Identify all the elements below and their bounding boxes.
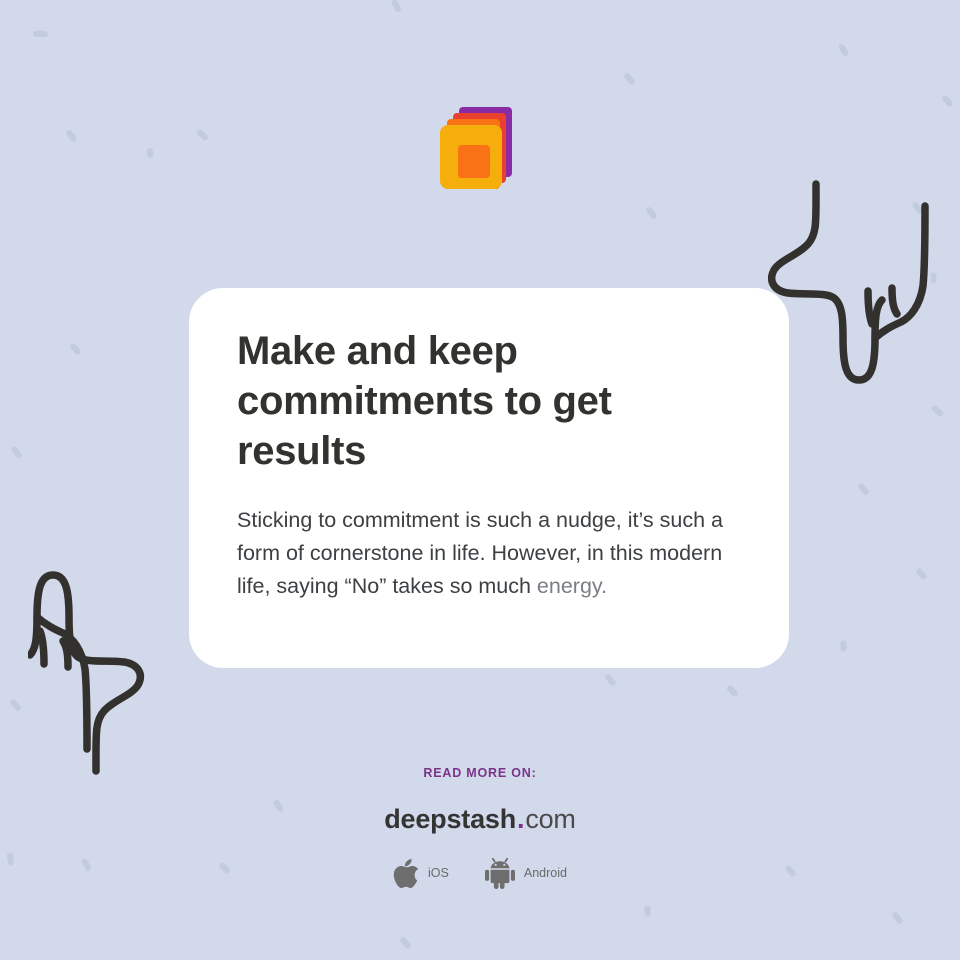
wordmark-name: deepstash [384,804,516,834]
confetti-dash [623,72,636,86]
pointing-hand-bottom-left-icon [28,562,198,777]
confetti-dash [9,698,22,712]
android-icon [485,857,515,889]
ios-badge-label: iOS [428,866,449,880]
idea-card: Make and keep commitments to get results… [189,288,789,668]
store-badges: iOS [0,857,960,889]
android-store-badge[interactable]: Android [485,857,567,889]
confetti-dash [69,342,82,356]
idea-card-poster: Make and keep commitments to get results… [0,0,960,960]
confetti-dash [391,0,402,13]
pointing-hand-top-right-icon [768,178,938,393]
confetti-dash [911,201,923,215]
confetti-dash [645,206,658,220]
confetti-dash [857,482,870,496]
confetti-dash [33,31,48,38]
android-badge-label: Android [524,866,567,880]
idea-body-main: Sticking to commitment is such a nudge, … [237,508,723,598]
confetti-dash [891,911,903,925]
wordmark-tld: com [525,804,575,834]
confetti-dash [930,272,936,283]
confetti-dash [838,43,850,57]
confetti-dash [840,640,847,651]
footer: READ MORE ON: deepstash.com iOS [0,766,960,889]
deepstash-cube-logo-icon [0,104,960,196]
confetti-dash [10,445,23,459]
confetti-dash [915,567,928,581]
confetti-dash [931,405,945,418]
site-wordmark[interactable]: deepstash.com [0,806,960,833]
idea-body-text: Sticking to commitment is such a nudge, … [237,504,741,603]
idea-body-tail: energy. [537,574,607,598]
wordmark-dot: . [516,804,525,834]
confetti-dash [604,673,617,687]
idea-title: Make and keep commitments to get results [237,326,741,476]
ios-store-badge[interactable]: iOS [393,858,449,888]
apple-icon [393,858,419,888]
read-more-label: READ MORE ON: [0,766,960,780]
confetti-dash [644,905,651,916]
confetti-dash [399,936,412,950]
confetti-dash [726,684,739,698]
